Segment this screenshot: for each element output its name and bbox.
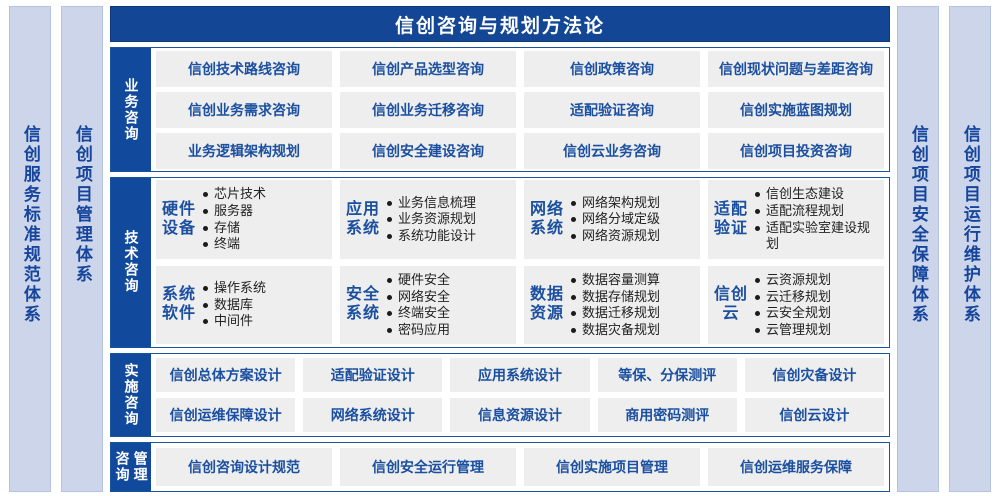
tile[interactable]: 信创云业务咨询 [524, 133, 700, 169]
card-list-item: 信创生态建设 [754, 186, 878, 203]
card-list: 网络架构规划 网络分域定级 网络资源规划 [570, 195, 694, 245]
pillar-project-ops-system: 信创项目运行维护体系 [949, 6, 991, 492]
tile[interactable]: 信创产品选型咨询 [340, 51, 516, 87]
tile-row: 信创技术路线咨询 信创产品选型咨询 信创政策咨询 信创现状问题与差距咨询 [156, 51, 884, 87]
band-label-management: 咨询 管理 [111, 443, 151, 491]
card-list-item: 中间件 [202, 313, 326, 330]
band-label-text-consulting: 咨询 [114, 451, 129, 483]
card-list-item: 服务器 [202, 203, 326, 220]
card-network-system[interactable]: 网络 系统 网络架构规划 网络分域定级 网络资源规划 [524, 180, 700, 259]
card-list-item: 云迁移规划 [754, 289, 878, 306]
card-list: 操作系统 数据库 中间件 [202, 280, 326, 330]
band-body-business: 信创技术路线咨询 信创产品选型咨询 信创政策咨询 信创现状问题与差距咨询 信创业… [151, 48, 889, 171]
pillar-label: 信创服务标准规范体系 [21, 125, 39, 325]
band-body-management: 信创咨询设计规范 信创安全运行管理 信创实施项目管理 信创运维服务保障 [151, 443, 889, 491]
card-list-item: 数据库 [202, 297, 326, 314]
tile[interactable]: 业务逻辑架构规划 [156, 133, 332, 169]
card-data-resources[interactable]: 数据 资源 数据容量测算 数据存储规划 数据迁移规划 数据灾备规划 [524, 266, 700, 345]
card-application-system[interactable]: 应用 系统 业务信息梳理 业务资源规划 系统功能设计 [340, 180, 516, 259]
pillar-project-management-system: 信创项目管理体系 [61, 6, 103, 492]
card-list-item: 存储 [202, 220, 326, 237]
card-list-item: 云资源规划 [754, 272, 878, 289]
band-business-consulting: 业务咨询 信创技术路线咨询 信创产品选型咨询 信创政策咨询 信创现状问题与差距咨… [110, 47, 890, 172]
card-system-software[interactable]: 系统 软件 操作系统 数据库 中间件 [156, 266, 332, 345]
tile[interactable]: 信创业务迁移咨询 [340, 92, 516, 128]
tile[interactable]: 信创安全运行管理 [340, 448, 516, 486]
card-title: 网络 系统 [530, 201, 564, 239]
card-list-item: 适配流程规划 [754, 203, 878, 220]
tile[interactable]: 信创实施项目管理 [524, 448, 700, 486]
tile[interactable]: 信创咨询设计规范 [156, 448, 332, 486]
card-list: 硬件安全 网络安全 终端安全 密码应用 [386, 272, 510, 339]
card-list-item: 终端安全 [386, 305, 510, 322]
tile[interactable]: 等保、分保测评 [598, 358, 737, 392]
tile[interactable]: 信创灾备设计 [745, 358, 884, 392]
page-title: 信创咨询与规划方法论 [110, 6, 890, 42]
tile[interactable]: 应用系统设计 [450, 358, 589, 392]
card-title: 信创 云 [714, 286, 748, 324]
band-body-technical: 硬件 设备 芯片技术 服务器 存储 终端 应用 系统 业务信息梳理 业务资源规划 [151, 178, 889, 347]
card-list-item: 密码应用 [386, 322, 510, 339]
card-list-item: 数据容量测算 [570, 272, 694, 289]
card-list-item: 终端 [202, 236, 326, 253]
band-body-implementation: 信创总体方案设计 适配验证设计 应用系统设计 等保、分保测评 信创灾备设计 信创… [151, 354, 889, 436]
pillar-label: 信创项目运行维护体系 [961, 125, 979, 325]
card-list-item: 业务信息梳理 [386, 195, 510, 212]
page-title-text: 信创咨询与规划方法论 [395, 11, 605, 38]
tile-row: 信创咨询设计规范 信创安全运行管理 信创实施项目管理 信创运维服务保障 [156, 448, 884, 486]
diagram-root: 信创服务标准规范体系 信创项目管理体系 信创咨询与规划方法论 业务咨询 信创技术… [0, 0, 1000, 496]
tile[interactable]: 信创实施蓝图规划 [708, 92, 884, 128]
card-list-item: 云安全规划 [754, 305, 878, 322]
card-list: 信创生态建设 适配流程规划 适配实验室建设规划 [754, 186, 878, 253]
card-list-item: 云管理规划 [754, 322, 878, 339]
tile[interactable]: 信创运维服务保障 [708, 448, 884, 486]
tile[interactable]: 信创现状问题与差距咨询 [708, 51, 884, 87]
card-title: 应用 系统 [346, 201, 380, 239]
tile[interactable]: 信创运维保障设计 [156, 398, 295, 432]
band-label-technical: 技术咨询 [111, 178, 151, 347]
card-list: 云资源规划 云迁移规划 云安全规划 云管理规划 [754, 272, 878, 339]
main-content: 信创咨询与规划方法论 业务咨询 信创技术路线咨询 信创产品选型咨询 信创政策咨询… [110, 6, 890, 492]
tile[interactable]: 网络系统设计 [303, 398, 442, 432]
card-list-item: 业务资源规划 [386, 211, 510, 228]
pillar-service-standard-system: 信创服务标准规范体系 [9, 6, 51, 492]
tile-row: 信创运维保障设计 网络系统设计 信息资源设计 商用密码测评 信创云设计 [156, 398, 884, 432]
card-title: 系统 软件 [162, 286, 196, 324]
band-label-text: 业务咨询 [123, 78, 138, 142]
tile-row: 业务逻辑架构规划 信创安全建设咨询 信创云业务咨询 信创项目投资咨询 [156, 133, 884, 169]
band-consulting-management: 咨询 管理 信创咨询设计规范 信创安全运行管理 信创实施项目管理 信创运维服务保… [110, 442, 890, 492]
card-list-item: 网络架构规划 [570, 195, 694, 212]
card-list-item: 硬件安全 [386, 272, 510, 289]
card-list-item: 适配实验室建设规划 [754, 220, 878, 253]
pillar-label: 信创项目安全保障体系 [909, 125, 927, 325]
card-list: 业务信息梳理 业务资源规划 系统功能设计 [386, 195, 510, 245]
card-title: 安全 系统 [346, 286, 380, 324]
card-title: 数据 资源 [530, 286, 564, 324]
card-xinchuang-cloud[interactable]: 信创 云 云资源规划 云迁移规划 云安全规划 云管理规划 [708, 266, 884, 345]
band-label-text: 实施咨询 [123, 363, 138, 427]
card-list: 芯片技术 服务器 存储 终端 [202, 186, 326, 253]
card-list-item: 芯片技术 [202, 186, 326, 203]
card-row: 硬件 设备 芯片技术 服务器 存储 终端 应用 系统 业务信息梳理 业务资源规划 [156, 180, 884, 259]
tile[interactable]: 商用密码测评 [598, 398, 737, 432]
card-hardware-devices[interactable]: 硬件 设备 芯片技术 服务器 存储 终端 [156, 180, 332, 259]
card-list-item: 系统功能设计 [386, 228, 510, 245]
tile-row: 信创总体方案设计 适配验证设计 应用系统设计 等保、分保测评 信创灾备设计 [156, 358, 884, 392]
band-label-text-management: 管理 [133, 451, 148, 483]
tile[interactable]: 信创总体方案设计 [156, 358, 295, 392]
tile[interactable]: 信创技术路线咨询 [156, 51, 332, 87]
card-list-item: 数据灾备规划 [570, 322, 694, 339]
card-title: 硬件 设备 [162, 201, 196, 239]
card-security-system[interactable]: 安全 系统 硬件安全 网络安全 终端安全 密码应用 [340, 266, 516, 345]
card-list-item: 数据迁移规划 [570, 305, 694, 322]
tile-row: 信创业务需求咨询 信创业务迁移咨询 适配验证咨询 信创实施蓝图规划 [156, 92, 884, 128]
band-technical-consulting: 技术咨询 硬件 设备 芯片技术 服务器 存储 终端 应用 系统 [110, 177, 890, 348]
card-list-item: 网络分域定级 [570, 211, 694, 228]
tile[interactable]: 信创云设计 [745, 398, 884, 432]
card-row: 系统 软件 操作系统 数据库 中间件 安全 系统 硬件安全 网络安全 终端安全 [156, 266, 884, 345]
pillar-label: 信创项目管理体系 [73, 125, 91, 285]
tile[interactable]: 信创政策咨询 [524, 51, 700, 87]
card-adaptation-verification[interactable]: 适配 验证 信创生态建设 适配流程规划 适配实验室建设规划 [708, 180, 884, 259]
band-implementation-consulting: 实施咨询 信创总体方案设计 适配验证设计 应用系统设计 等保、分保测评 信创灾备… [110, 353, 890, 437]
card-list-item: 操作系统 [202, 280, 326, 297]
tile[interactable]: 适配验证咨询 [524, 92, 700, 128]
band-label-business: 业务咨询 [111, 48, 151, 171]
tile[interactable]: 适配验证设计 [303, 358, 442, 392]
tile[interactable]: 信息资源设计 [450, 398, 589, 432]
card-list-item: 网络资源规划 [570, 228, 694, 245]
tile[interactable]: 信创业务需求咨询 [156, 92, 332, 128]
card-list-item: 网络安全 [386, 289, 510, 306]
tile[interactable]: 信创项目投资咨询 [708, 133, 884, 169]
band-label-text: 技术咨询 [123, 230, 138, 294]
card-list-item: 数据存储规划 [570, 289, 694, 306]
card-list: 数据容量测算 数据存储规划 数据迁移规划 数据灾备规划 [570, 272, 694, 339]
card-title: 适配 验证 [714, 201, 748, 239]
band-label-implementation: 实施咨询 [111, 354, 151, 436]
tile[interactable]: 信创安全建设咨询 [340, 133, 516, 169]
pillar-project-security-system: 信创项目安全保障体系 [897, 6, 939, 492]
